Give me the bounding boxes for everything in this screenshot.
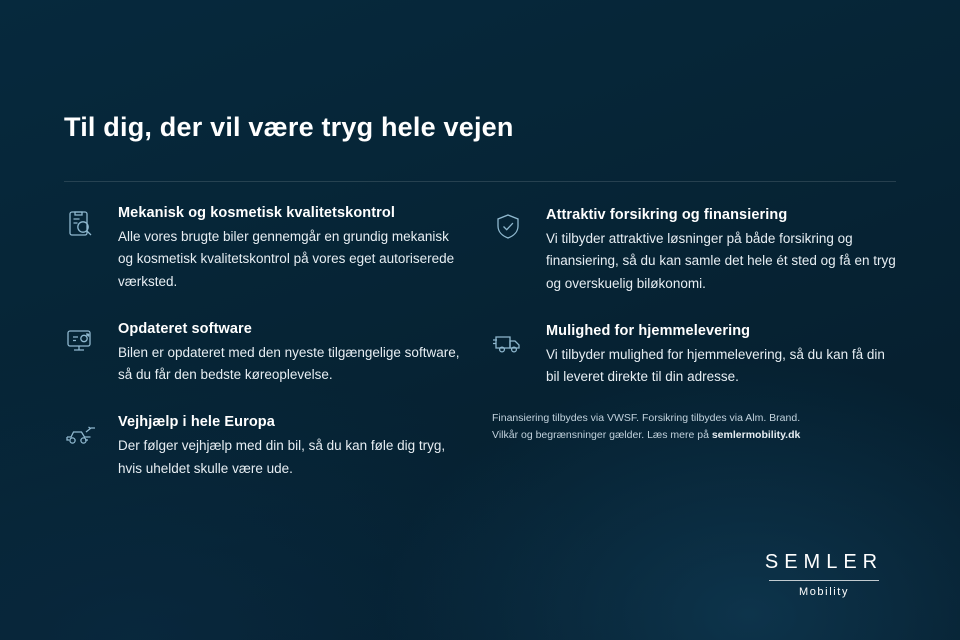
feature-body: Vi tilbyder attraktive løsninger på både…	[546, 228, 896, 295]
fineprint-line-2-text: Vilkår og begrænsninger gælder. Læs mere…	[492, 429, 712, 441]
brand-logo: SEMLER Mobility	[744, 551, 904, 598]
feature-item: Attraktiv forsikring og finansiering Vi …	[492, 207, 896, 295]
fineprint: Finansiering tilbydes via VWSF. Forsikri…	[492, 410, 892, 444]
feature-heading: Attraktiv forsikring og finansiering	[546, 207, 896, 223]
fineprint-line-2: Vilkår og begrænsninger gælder. Læs mere…	[492, 427, 892, 444]
feature-heading: Vejhjælp i hele Europa	[118, 414, 464, 430]
feature-body: Alle vores brugte biler gennemgår en gru…	[118, 226, 464, 293]
feature-body: Bilen er opdateret med den nyeste tilgæn…	[118, 342, 464, 387]
feature-item: Mekanisk og kosmetisk kvalitetskontrol A…	[64, 205, 464, 293]
fineprint-link[interactable]: semlermobility.dk	[712, 429, 801, 441]
feature-body: Der følger vejhjælp med din bil, så du k…	[118, 435, 464, 480]
feature-heading: Mekanisk og kosmetisk kvalitetskontrol	[118, 205, 464, 221]
title-divider	[64, 181, 896, 182]
page-title: Til dig, der vil være tryg hele vejen	[64, 112, 514, 143]
feature-heading: Mulighed for hjemmelevering	[546, 323, 896, 339]
features-column-left: Mekanisk og kosmetisk kvalitetskontrol A…	[64, 205, 464, 508]
feature-heading: Opdateret software	[118, 321, 464, 337]
feature-item: Mulighed for hjemmelevering Vi tilbyder …	[492, 323, 896, 389]
delivery-truck-icon	[492, 327, 526, 359]
features-column-right: Attraktiv forsikring og finansiering Vi …	[492, 205, 896, 416]
logo-wordmark: SEMLER	[744, 551, 904, 574]
feature-body: Vi tilbyder mulighed for hjemmelevering,…	[546, 344, 896, 389]
logo-rule	[769, 580, 879, 581]
tow-truck-icon	[64, 418, 98, 450]
fineprint-line-1: Finansiering tilbydes via VWSF. Forsikri…	[492, 410, 892, 427]
clipboard-search-icon	[64, 209, 98, 241]
feature-item: Opdateret software Bilen er opdateret me…	[64, 321, 464, 387]
logo-subtitle: Mobility	[744, 586, 904, 598]
monitor-update-icon	[64, 325, 98, 357]
shield-check-icon	[492, 211, 526, 243]
slide-page: Til dig, der vil være tryg hele vejen Me…	[0, 0, 960, 640]
feature-item: Vejhjælp i hele Europa Der følger vejhjæ…	[64, 414, 464, 480]
